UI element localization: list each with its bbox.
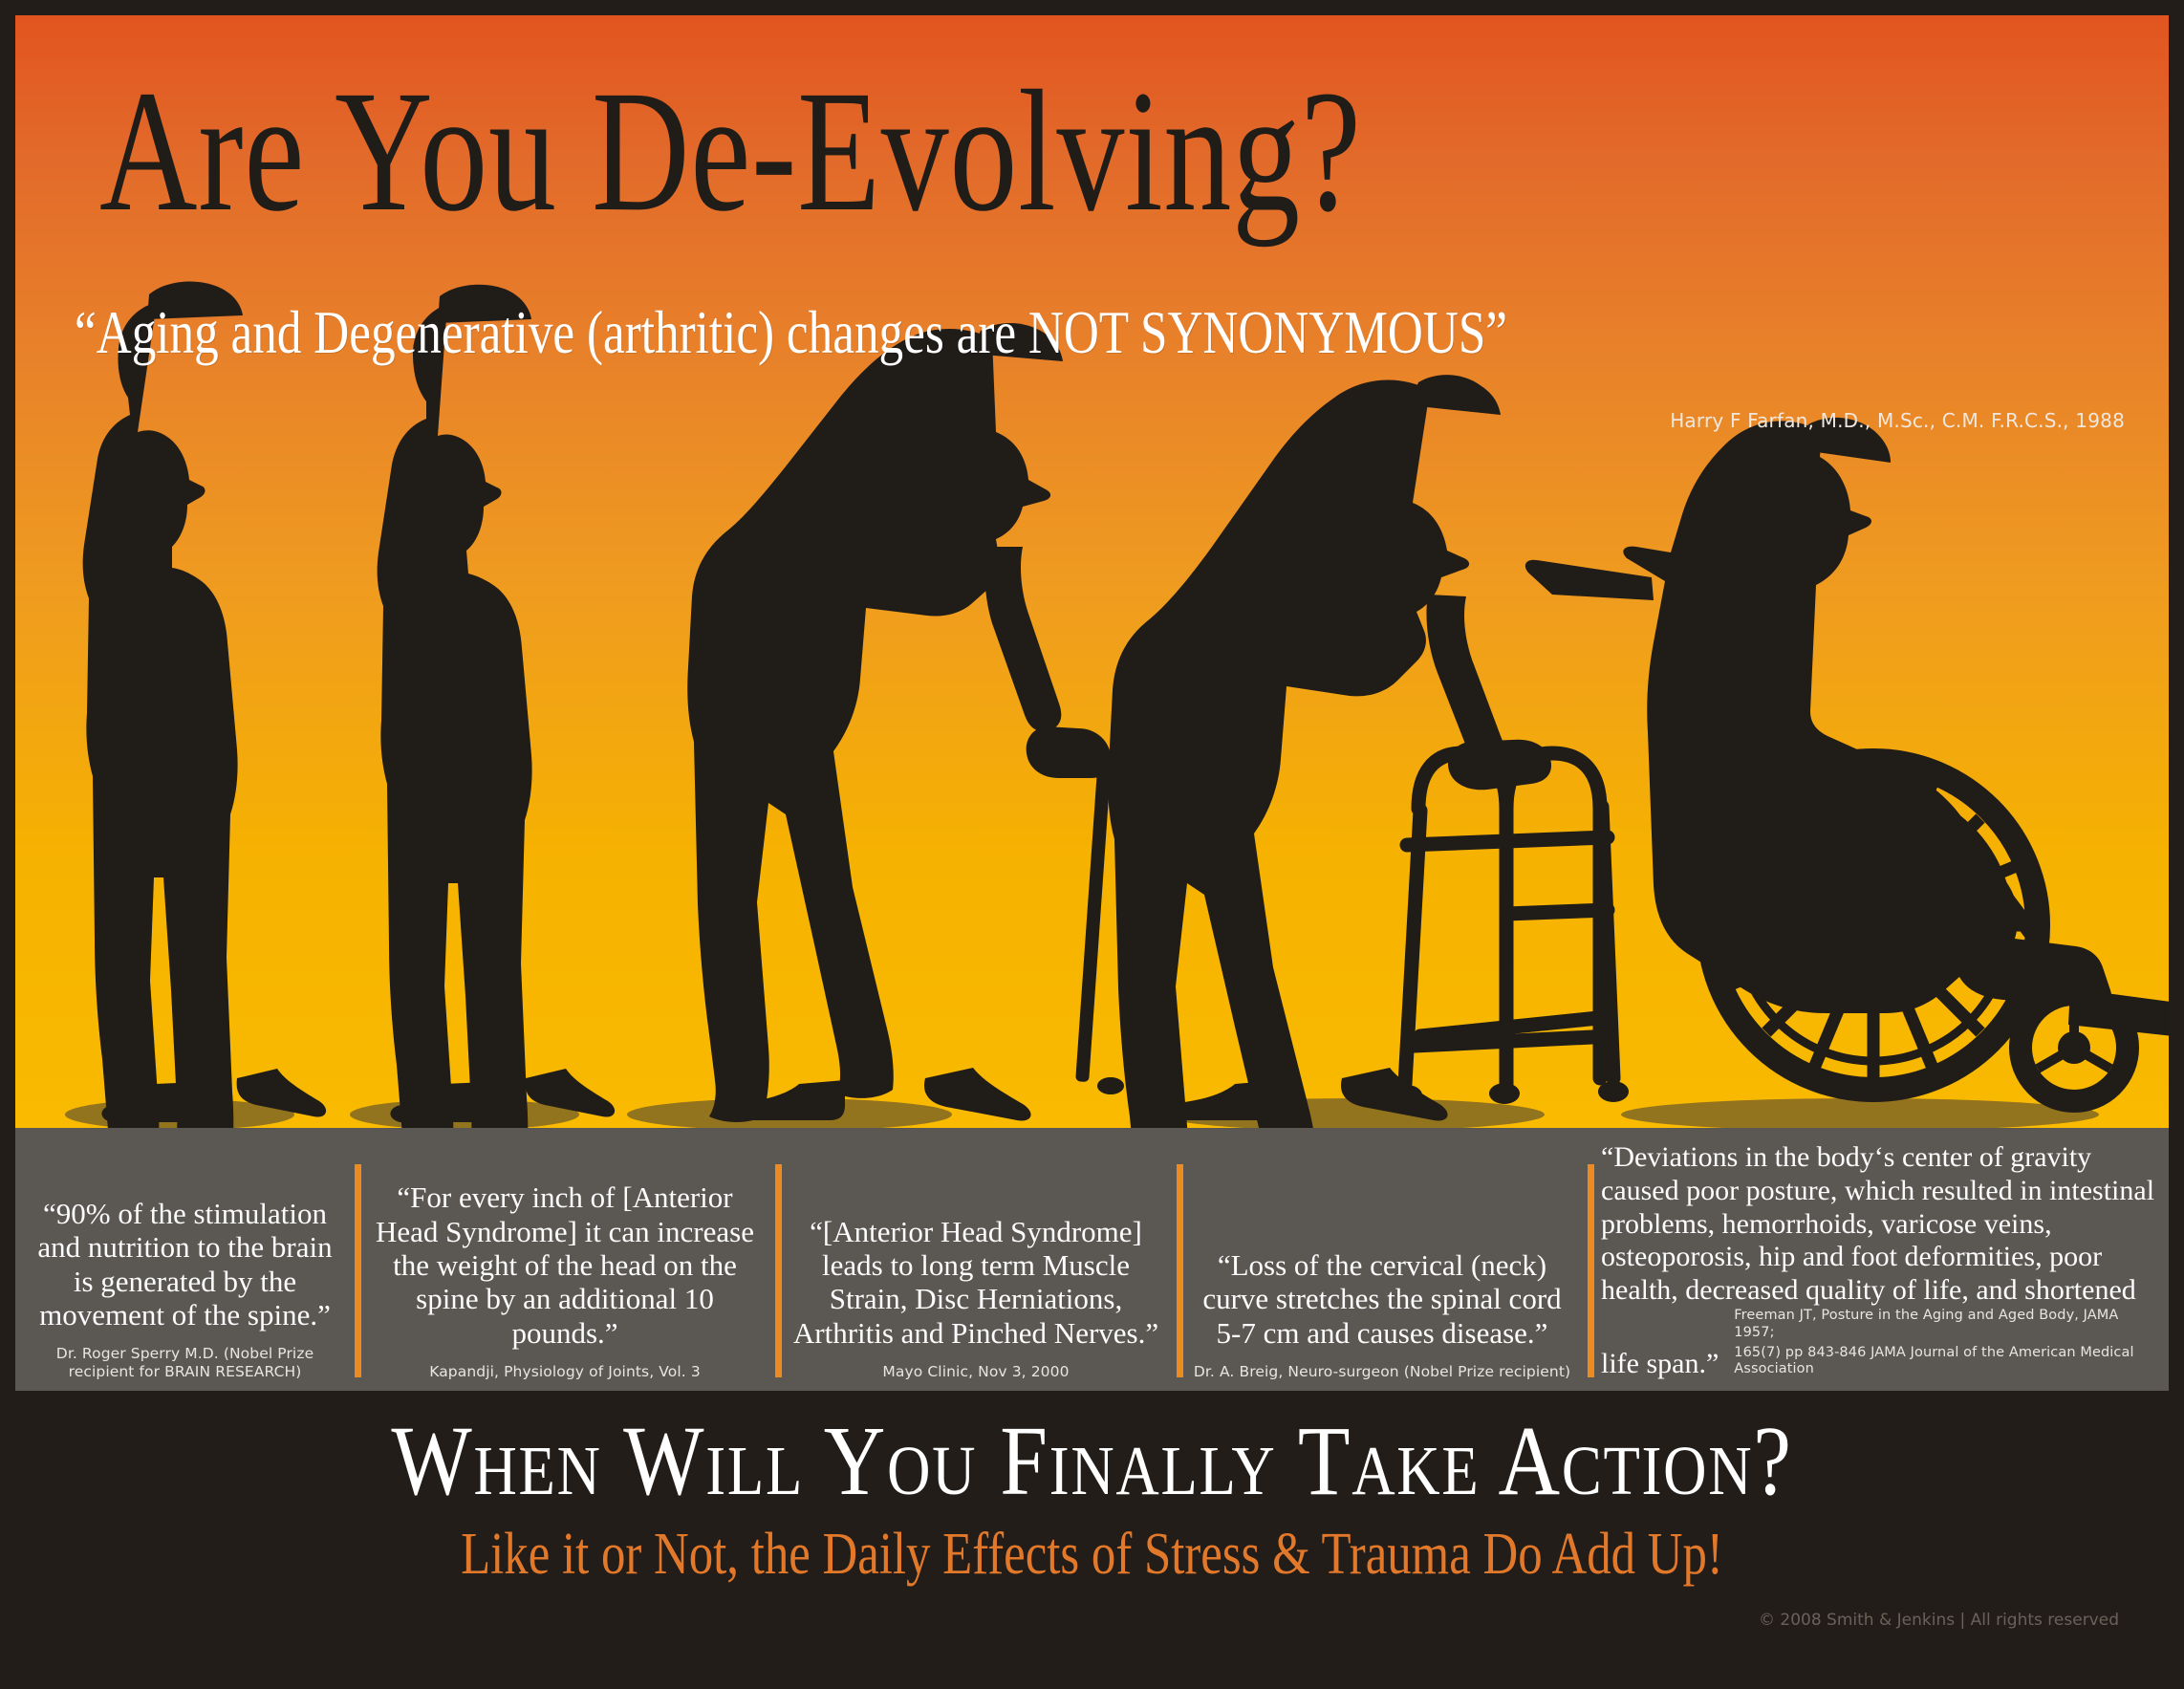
poster-root: Are You De-Evolving? “Aging and Degenera… bbox=[0, 0, 2184, 1689]
quote-cell-4: “Loss of the cervical (neck) curve stret… bbox=[1177, 1128, 1588, 1391]
quote-cell-2: “For every inch of [Anterior Head Syndro… bbox=[355, 1128, 775, 1391]
quote-cell-1: “90% of the stimulation and nutrition to… bbox=[15, 1128, 355, 1391]
quote-source: Dr. A. Breig, Neuro-surgeon (Nobel Prize… bbox=[1190, 1363, 1574, 1381]
quote-text: “[Anterior Head Syndrome] leads to long … bbox=[789, 1215, 1163, 1350]
copyright-notice: © 2008 Smith & Jenkins | All rights rese… bbox=[1759, 1611, 2119, 1630]
quote-text: “Deviations in the body‘s center of grav… bbox=[1601, 1141, 2155, 1308]
quote-text-tail: life span.” bbox=[1601, 1348, 1719, 1381]
figure-stooped-with-cane bbox=[687, 323, 1124, 1122]
quote-cell-3: “[Anterior Head Syndrome] leads to long … bbox=[775, 1128, 1177, 1391]
walker-foot-2 bbox=[1489, 1083, 1520, 1104]
quote-text: “90% of the stimulation and nutrition to… bbox=[29, 1197, 341, 1332]
tagline: Like it or Not, the Daily Effects of Str… bbox=[209, 1525, 1975, 1584]
quote-text: “Loss of the cervical (neck) curve stret… bbox=[1190, 1248, 1574, 1350]
subtitle-attribution: Harry F Farfan, M.D., M.Sc., C.M. F.R.C.… bbox=[1670, 409, 2125, 432]
walker-frame bbox=[1405, 753, 1613, 1084]
artwork-panel: Are You De-Evolving? “Aging and Degenera… bbox=[15, 15, 2169, 1128]
quote-text: “For every inch of [Anterior Head Syndro… bbox=[368, 1180, 762, 1350]
figure-standing-upright bbox=[83, 281, 326, 1128]
figure-in-wheelchair bbox=[1525, 418, 2169, 1101]
quote-source: Kapandji, Physiology of Joints, Vol. 3 bbox=[368, 1363, 762, 1381]
call-to-action: When Will You Finally Take Action? bbox=[166, 1412, 2019, 1511]
quote-source-line-2: 165(7) pp 843-846 JAMA Journal of the Am… bbox=[1734, 1345, 2155, 1378]
page-title: Are You De-Evolving? bbox=[99, 65, 1362, 239]
figure-hunched-with-walker bbox=[1108, 375, 1629, 1128]
figure-forward-head bbox=[378, 285, 615, 1128]
subtitle-quote: “Aging and Degenerative (arthritic) chan… bbox=[75, 302, 1507, 363]
quote-source: Dr. Roger Sperry M.D. (Nobel Prize recip… bbox=[29, 1345, 341, 1381]
quote-source: Mayo Clinic, Nov 3, 2000 bbox=[789, 1363, 1163, 1381]
quote-band: “90% of the stimulation and nutrition to… bbox=[15, 1128, 2169, 1391]
shadow-5 bbox=[1621, 1098, 2099, 1128]
quote-cell-5: “Deviations in the body‘s center of grav… bbox=[1588, 1128, 2169, 1391]
quote-source-line-1: Freeman JT, Posture in the Aging and Age… bbox=[1734, 1308, 2155, 1341]
wheelchair-rear-wheel bbox=[1709, 761, 2038, 1090]
walker-foot-1 bbox=[1392, 1085, 1422, 1106]
walker-foot-3 bbox=[1598, 1081, 1629, 1102]
bottom-banner: When Will You Finally Take Action? Like … bbox=[15, 1391, 2169, 1674]
